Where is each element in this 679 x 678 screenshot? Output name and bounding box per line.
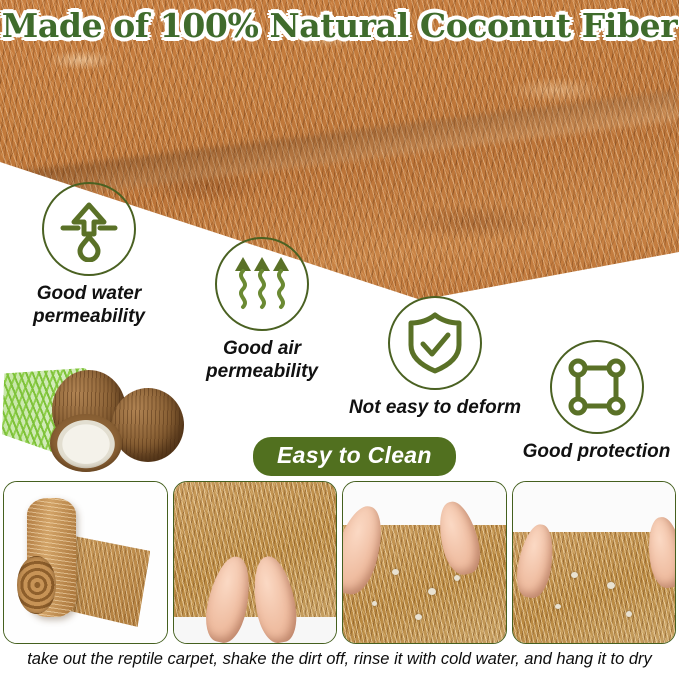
feature-good-protection: Good protection bbox=[514, 340, 679, 463]
feature-caption: Good protection bbox=[514, 440, 679, 463]
feature-icon-ring bbox=[215, 237, 309, 331]
water-drop-arrow-icon bbox=[56, 196, 122, 262]
dirt-particle bbox=[607, 582, 615, 589]
dirt-particle bbox=[415, 614, 422, 620]
photo-tile-lifting-mat-with-dirt bbox=[342, 481, 507, 644]
tile-background bbox=[174, 617, 337, 643]
square-corners-icon bbox=[564, 354, 630, 420]
status-badge: Easy to Clean bbox=[253, 437, 456, 476]
photo-tile-fingers-pressing bbox=[173, 481, 338, 644]
product-feature-poster: Made of 100% Natural Coconut Fiber Good … bbox=[0, 0, 679, 678]
coconut-whole-right bbox=[112, 388, 184, 462]
dirt-particle bbox=[428, 588, 436, 595]
feature-caption: Good water permeability bbox=[3, 282, 175, 328]
feature-not-easy-to-deform: Not easy to deform bbox=[330, 296, 540, 419]
photo-tile-rolled-mat bbox=[3, 481, 168, 644]
page-title: Made of 100% Natural Coconut Fiber bbox=[0, 8, 679, 44]
air-flow-waves-icon bbox=[229, 251, 295, 317]
footer-caption: take out the reptile carpet, shake the d… bbox=[0, 648, 679, 670]
coconuts-with-palm-frond bbox=[0, 362, 210, 472]
feature-icon-ring bbox=[42, 182, 136, 276]
photo-strip bbox=[3, 481, 676, 644]
feature-icon-ring bbox=[388, 296, 482, 390]
photo-tile-shaking-dirt-off bbox=[512, 481, 677, 644]
coconut-halved bbox=[50, 414, 122, 472]
dirt-particle bbox=[454, 575, 460, 581]
feature-good-water-permeability: Good water permeability bbox=[3, 182, 175, 328]
feature-caption: Not easy to deform bbox=[330, 396, 540, 419]
feature-icon-ring bbox=[550, 340, 644, 434]
dirt-particle bbox=[392, 569, 399, 575]
shield-check-icon bbox=[402, 310, 468, 376]
mat-roll-spiral-end bbox=[17, 556, 56, 614]
